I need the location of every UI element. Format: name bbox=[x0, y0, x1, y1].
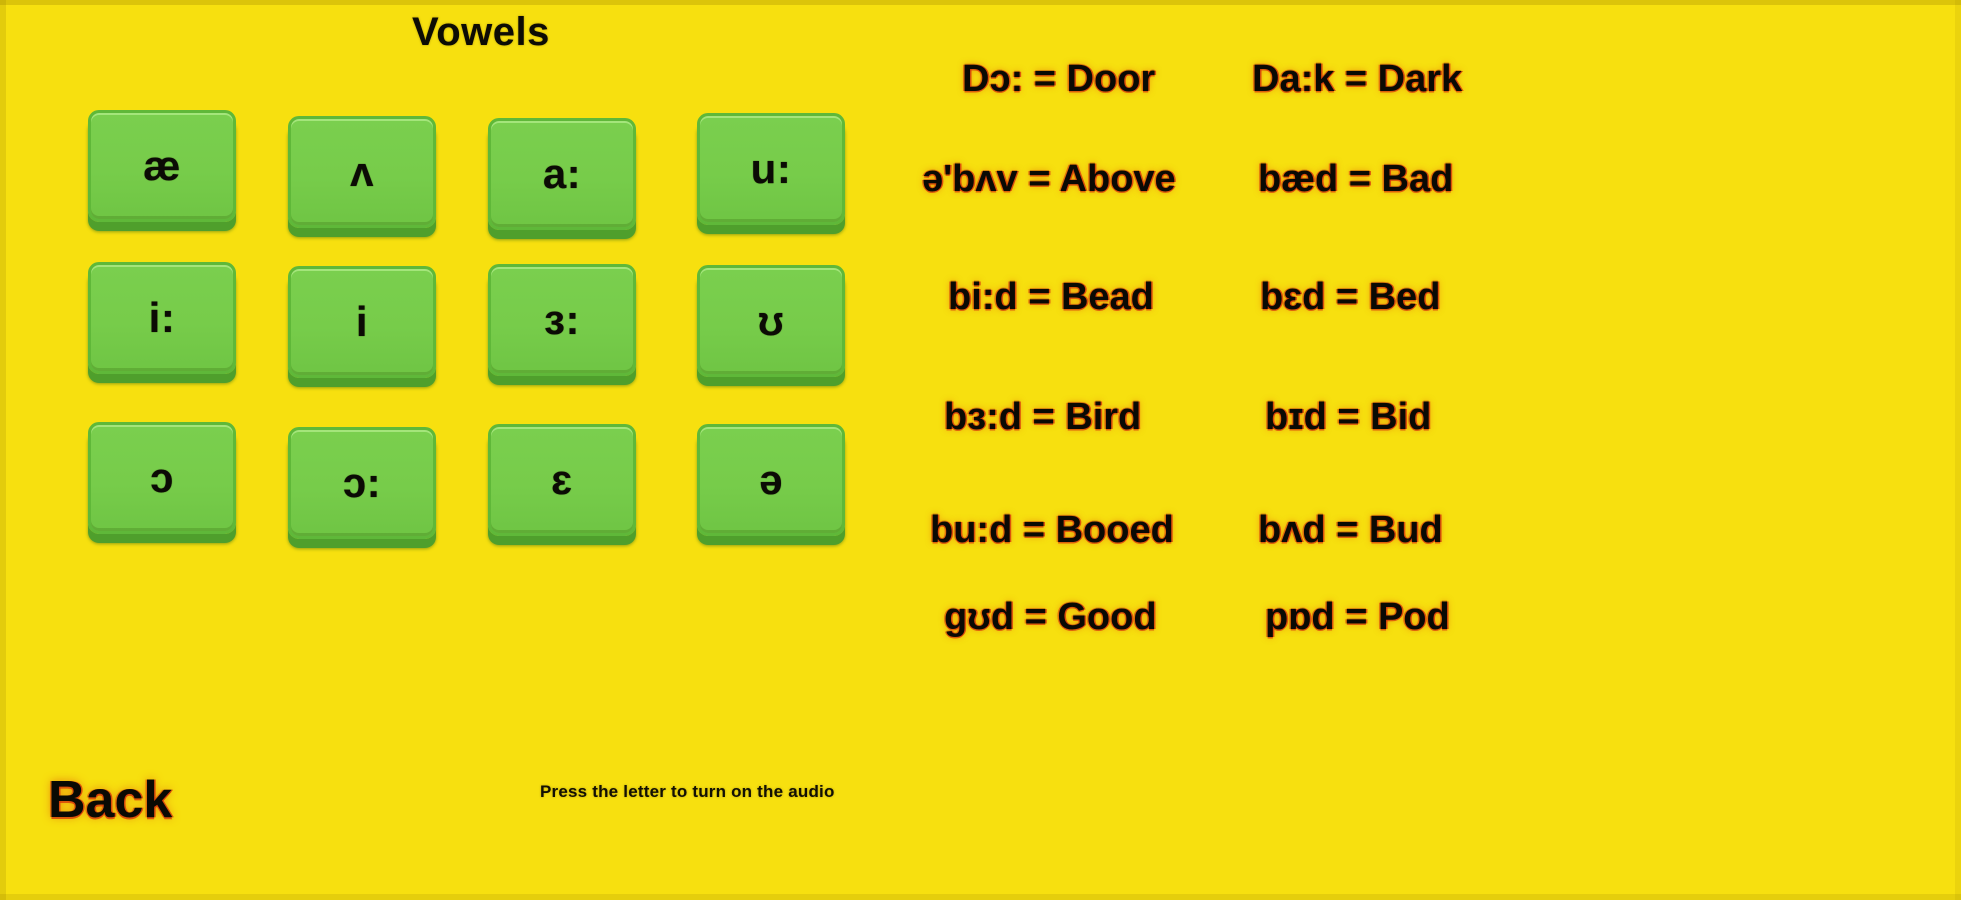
back-button[interactable]: Back bbox=[48, 770, 172, 830]
word-booed: bu:d = Booed bbox=[930, 509, 1174, 552]
word-pod: pɒd = Pod bbox=[1265, 596, 1450, 639]
word-bed: bɛd = Bed bbox=[1260, 276, 1440, 319]
audio-hint-text: Press the letter to turn on the audio bbox=[540, 782, 835, 802]
word-bird: bɜ:d = Bird bbox=[944, 396, 1141, 439]
word-bud: bʌd = Bud bbox=[1258, 509, 1443, 552]
app-screen: Vowels æʌa:u:i:iɜ:ʊɔɔ:ɛə Dɔ: = DoorDa:k … bbox=[0, 0, 1961, 900]
word-door: Dɔ: = Door bbox=[962, 58, 1155, 101]
word-bad: bæd = Bad bbox=[1258, 158, 1453, 201]
word-good: gʊd = Good bbox=[944, 596, 1157, 639]
word-above: ə'bʌv = Above bbox=[922, 158, 1176, 201]
word-bead: bi:d = Bead bbox=[948, 276, 1154, 319]
word-bid: bɪd = Bid bbox=[1265, 396, 1431, 439]
pronunciation-word-list: Dɔ: = DoorDa:k = Darkə'bʌv = Abovebæd = … bbox=[0, 0, 1961, 900]
word-dark: Da:k = Dark bbox=[1252, 58, 1462, 101]
